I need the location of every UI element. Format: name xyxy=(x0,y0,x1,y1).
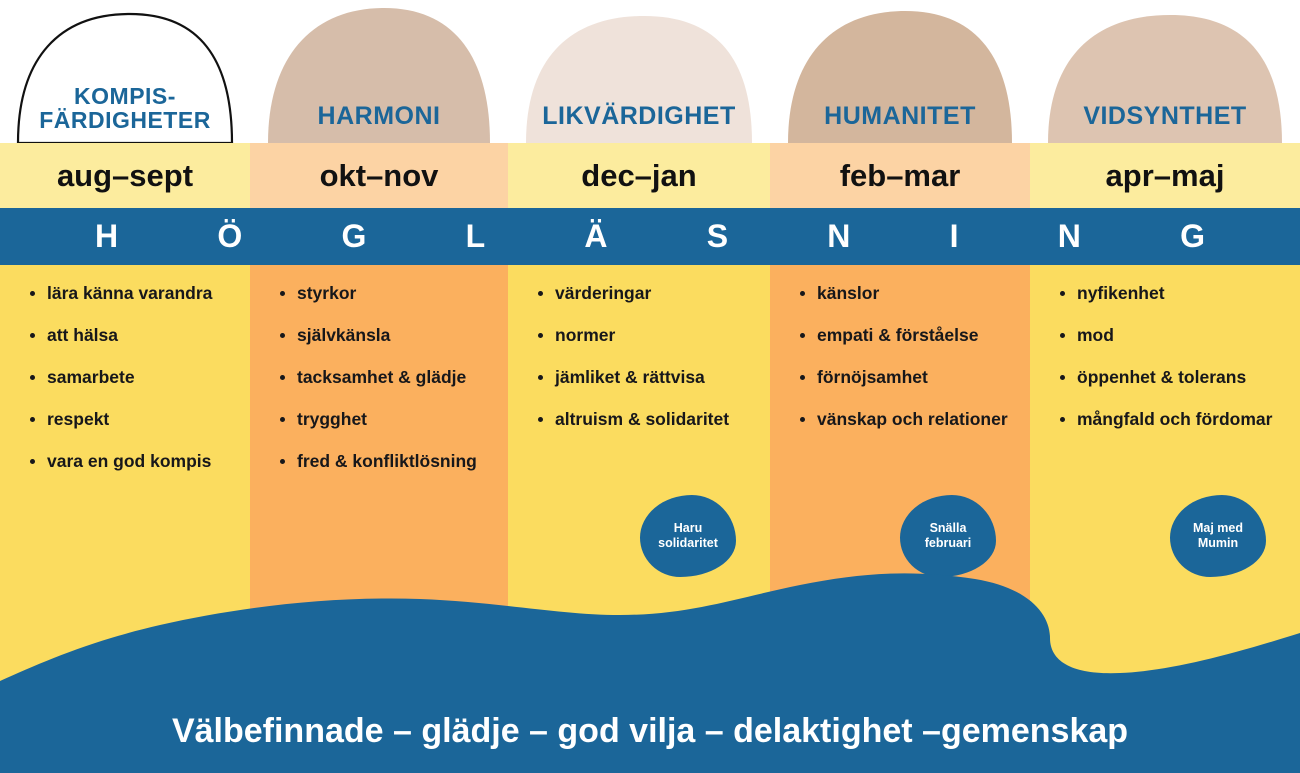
list-item: öppenhet & tolerans xyxy=(1060,367,1286,389)
month-label-4: feb–mar xyxy=(840,158,961,194)
theme-badge-line: Maj med xyxy=(1193,521,1243,536)
arch-title-line: KOMPIS- xyxy=(0,85,250,108)
hoglasning-letter-6: S xyxy=(707,218,728,255)
arch-cell-4: HUMANITET xyxy=(770,0,1030,143)
content-cell-5: nyfikenhetmodöppenhet & toleransmångfald… xyxy=(1030,265,1300,773)
list-item: altruism & solidaritet xyxy=(538,409,756,431)
arch-title-2: HARMONI xyxy=(250,104,508,130)
skill-list-5: nyfikenhetmodöppenhet & toleransmångfald… xyxy=(1030,283,1300,451)
theme-badge-line: februari xyxy=(925,536,972,551)
content-cell-3: värderingarnormerjämliket & rättvisaaltr… xyxy=(508,265,770,773)
theme-badge-3[interactable]: Harusolidaritet xyxy=(640,495,736,577)
hoglasning-letter-4: L xyxy=(466,218,486,255)
hoglasning-letter-3: G xyxy=(341,218,366,255)
theme-badge-line: solidaritet xyxy=(658,536,718,551)
month-label-3: dec–jan xyxy=(581,158,696,194)
skill-list-2: styrkorsjälvkänslatacksamhet & glädjetry… xyxy=(250,283,508,492)
month-label-row: aug–septokt–novdec–janfeb–marapr–maj xyxy=(0,143,1300,208)
skill-list-4: känslorempati & förståelseförnöjsamhetvä… xyxy=(770,283,1030,451)
list-item: självkänsla xyxy=(280,325,494,347)
hoglasning-letter-2: Ö xyxy=(217,218,242,255)
list-item: jämliket & rättvisa xyxy=(538,367,756,389)
arch-title-line: HUMANITET xyxy=(770,104,1030,130)
month-label-1: aug–sept xyxy=(57,158,193,194)
hoglasning-band: HÖGLÄSNING xyxy=(0,208,1300,265)
month-cell-4: feb–mar xyxy=(770,143,1030,208)
arch-title-5: VIDSYNTHET xyxy=(1030,104,1300,130)
month-cell-2: okt–nov xyxy=(250,143,508,208)
theme-badge-4[interactable]: Snällafebruari xyxy=(900,495,996,577)
month-cell-1: aug–sept xyxy=(0,143,250,208)
theme-badge-text: Snällafebruari xyxy=(919,521,978,552)
list-item: tacksamhet & glädje xyxy=(280,367,494,389)
theme-badge-line: Haru xyxy=(658,521,718,536)
hoglasning-letter-5: Ä xyxy=(584,218,607,255)
footer-tagline: Välbefinnade – glädje – god vilja – dela… xyxy=(0,712,1300,751)
month-label-2: okt–nov xyxy=(320,158,439,194)
list-item: att hälsa xyxy=(30,325,236,347)
list-item: styrkor xyxy=(280,283,494,305)
skill-list-3: värderingarnormerjämliket & rättvisaaltr… xyxy=(508,283,770,451)
content-columns-row: lära känna varandraatt hälsasamarbeteres… xyxy=(0,265,1300,773)
arch-title-line: LIKVÄRDIGHET xyxy=(508,104,770,130)
month-label-5: apr–maj xyxy=(1106,158,1225,194)
month-cell-5: apr–maj xyxy=(1030,143,1300,208)
content-cell-1: lära känna varandraatt hälsasamarbeteres… xyxy=(0,265,250,773)
list-item: mångfald och fördomar xyxy=(1060,409,1286,431)
theme-badge-line: Snälla xyxy=(925,521,972,536)
list-item: mod xyxy=(1060,325,1286,347)
content-cell-2: styrkorsjälvkänslatacksamhet & glädjetry… xyxy=(250,265,508,773)
arch-cell-1: KOMPIS-FÄRDIGHETER xyxy=(0,0,250,143)
list-item: vara en god kompis xyxy=(30,451,236,473)
list-item: respekt xyxy=(30,409,236,431)
arch-cell-2: HARMONI xyxy=(250,0,508,143)
hoglasning-letter-9: N xyxy=(1058,218,1081,255)
theme-badge-line: Mumin xyxy=(1193,536,1243,551)
arch-cell-3: LIKVÄRDIGHET xyxy=(508,0,770,143)
arch-cell-5: VIDSYNTHET xyxy=(1030,0,1300,143)
arch-title-line: VIDSYNTHET xyxy=(1030,104,1300,130)
month-cell-3: dec–jan xyxy=(508,143,770,208)
arch-title-3: LIKVÄRDIGHET xyxy=(508,104,770,130)
list-item: förnöjsamhet xyxy=(800,367,1016,389)
list-item: vänskap och relationer xyxy=(800,409,1016,431)
hoglasning-letters: HÖGLÄSNING xyxy=(95,208,1205,265)
hoglasning-letter-10: G xyxy=(1180,218,1205,255)
list-item: normer xyxy=(538,325,756,347)
list-item: trygghet xyxy=(280,409,494,431)
hoglasning-letter-8: I xyxy=(950,218,959,255)
skill-list-1: lära känna varandraatt hälsasamarbeteres… xyxy=(0,283,250,492)
arch-title-4: HUMANITET xyxy=(770,104,1030,130)
list-item: nyfikenhet xyxy=(1060,283,1286,305)
hoglasning-letter-7: N xyxy=(827,218,850,255)
list-item: fred & konfliktlösning xyxy=(280,451,494,473)
list-item: empati & förståelse xyxy=(800,325,1016,347)
list-item: känslor xyxy=(800,283,1016,305)
theme-badge-5[interactable]: Maj medMumin xyxy=(1170,495,1266,577)
arch-header-row: KOMPIS-FÄRDIGHETERHARMONILIKVÄRDIGHETHUM… xyxy=(0,0,1300,143)
arch-title-line: FÄRDIGHETER xyxy=(0,109,250,132)
list-item: samarbete xyxy=(30,367,236,389)
list-item: lära känna varandra xyxy=(30,283,236,305)
arch-title-1: KOMPIS-FÄRDIGHETER xyxy=(0,85,250,132)
arch-title-line: HARMONI xyxy=(250,104,508,130)
poster-root: KOMPIS-FÄRDIGHETERHARMONILIKVÄRDIGHETHUM… xyxy=(0,0,1300,773)
theme-badge-text: Maj medMumin xyxy=(1187,521,1249,552)
content-cell-4: känslorempati & förståelseförnöjsamhetvä… xyxy=(770,265,1030,773)
hoglasning-letter-1: H xyxy=(95,218,118,255)
theme-badge-text: Harusolidaritet xyxy=(652,521,724,552)
list-item: värderingar xyxy=(538,283,756,305)
